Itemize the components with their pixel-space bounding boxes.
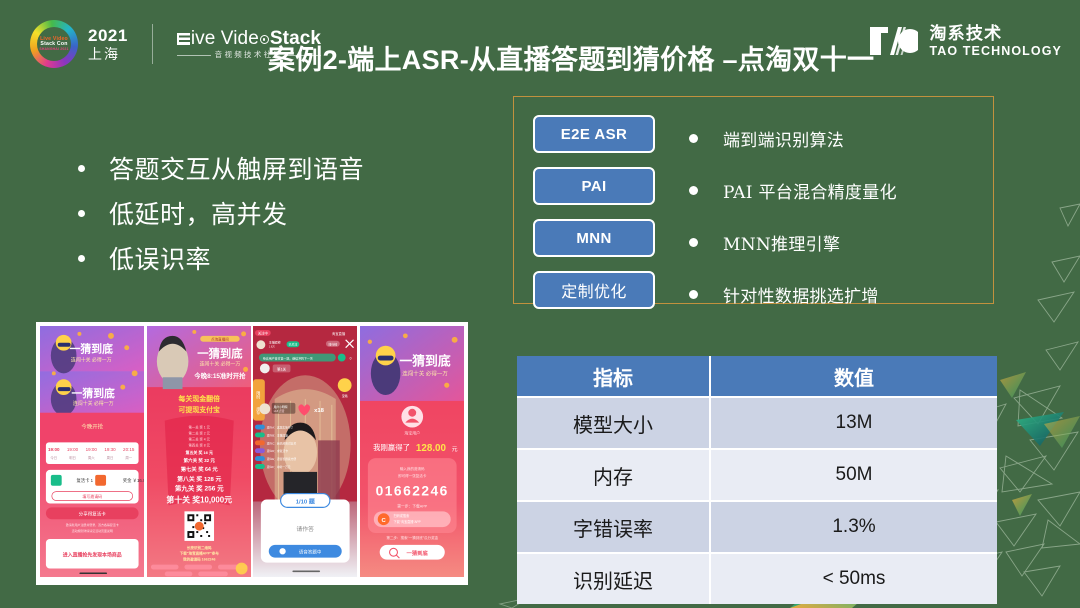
svg-text:今晚开抢: 今晚开抢 <box>81 423 103 431</box>
svg-text:分享得复活卡: 分享得复活卡 <box>79 510 107 517</box>
video-flag-icon <box>177 33 190 45</box>
svg-text:邀请新用户注册并登录，双方各得复活卡: 邀请新用户注册并登录，双方各得复活卡 <box>66 522 119 527</box>
svg-text:C: C <box>381 518 386 524</box>
key-points-list: 答题交互从触屏到语音 低延时，高并发 低误识率 <box>78 150 364 285</box>
svg-text:周六: 周六 <box>88 455 95 460</box>
svg-text:一猜到底: 一猜到底 <box>197 347 243 361</box>
conference-year-city: 2021 上海 <box>88 26 128 62</box>
svg-text:第七关 奖 64 元: 第七关 奖 64 元 <box>180 465 218 473</box>
svg-text:明日: 明日 <box>69 456 76 460</box>
svg-text:下载“淘宝直播APP”参与: 下载“淘宝直播APP”参与 <box>179 551 219 556</box>
app-screenshot-prize-ladder: 点淘直播间 一猜到底 连闯十关 必得一万 今晚8:15准时开抢 每关现金翻倍 可… <box>147 326 252 581</box>
svg-text:0: 0 <box>350 357 352 361</box>
svg-text:我的邀请码 1662246: 我的邀请码 1662246 <box>183 557 215 562</box>
svg-text:周一: 周一 <box>125 455 132 460</box>
svg-text:今日: 今日 <box>50 455 57 460</box>
list-item: MNN推理引擎 <box>689 223 989 261</box>
tech-chip-column: E2E ASR PAI MNN 定制优化 <box>533 115 655 323</box>
bullet-dot-icon <box>689 238 698 247</box>
tao-logo-icon <box>868 24 918 58</box>
screenshot-2-art: 点淘直播间 一猜到底 连闯十关 必得一万 今晚8:15准时开抢 每关现金翻倍 可… <box>147 326 251 577</box>
svg-text:观众F：冲刺一万元: 观众F：冲刺一万元 <box>267 465 291 469</box>
conference-city: 上海 <box>88 46 128 62</box>
svg-text:扫码或搜索: 扫码或搜索 <box>393 513 409 518</box>
svg-text:输入我的邀请码: 输入我的邀请码 <box>399 466 424 471</box>
table-header-metric: 指标 <box>517 356 711 398</box>
svg-text:关注中: 关注中 <box>258 331 268 336</box>
tech-chip-pai[interactable]: PAI <box>533 167 655 205</box>
conference-ring-logo-icon: Live Video Stack Con SHANGHAI 2021 <box>30 20 78 68</box>
svg-text:限时: 限时 <box>256 391 261 400</box>
svg-text:用户小明啊: 用户小明啊 <box>274 405 288 409</box>
app-screenshot-collage: 一猜到底 连闯十关 必得一万 一猜到底 连闯十关 必得一万 今晚开抢 19:00… <box>36 322 468 585</box>
svg-text:连闯十关 必得一万: 连闯十关 必得一万 <box>402 369 448 377</box>
svg-text:周日: 周日 <box>107 455 114 460</box>
svg-text:19:00: 19:00 <box>86 447 98 452</box>
svg-text:即可得一张复活卡: 即可得一张复活卡 <box>398 473 427 478</box>
ring-logo-line3: SHANGHAI 2021 <box>39 48 68 52</box>
svg-text:恭喜用户答对第一题，继续冲刺下一关: 恭喜用户答对第一题，继续冲刺下一关 <box>263 356 313 361</box>
svg-text:下载“淘宝直播”APP: 下载“淘宝直播”APP <box>393 519 420 524</box>
svg-text:已关注: 已关注 <box>289 342 298 347</box>
tao-technology-logo: 淘系技术 TAO TECHNOLOGY <box>868 24 1062 58</box>
svg-text:一猜到底: 一猜到底 <box>72 386 115 400</box>
table-cell-metric: 识别延迟 <box>517 554 711 604</box>
svg-text:填写邀请码: 填写邀请码 <box>82 494 102 499</box>
svg-text:活动规则详情请见活动页面说明: 活动规则详情请见活动页面说明 <box>72 528 113 533</box>
tao-logo-name-cn: 淘系技术 <box>929 24 1062 43</box>
table-cell-metric: 内存 <box>517 450 711 502</box>
table-header-row: 指标 数值 <box>517 356 997 398</box>
table-header-value: 数值 <box>711 356 997 398</box>
wordmark-mid: ive Vide <box>191 29 259 48</box>
svg-text:观众B：主播加油: 观众B：主播加油 <box>267 433 288 437</box>
svg-text:连闯十关 必得一万: 连闯十关 必得一万 <box>71 356 112 363</box>
svg-text:连闯十关 必得一万: 连闯十关 必得一万 <box>199 360 240 367</box>
list-item-label: PAI 平台混合精度量化 <box>723 178 897 203</box>
bullet-dot-icon <box>78 210 85 217</box>
svg-text:第四关 奖 8 元: 第四关 奖 8 元 <box>188 442 210 447</box>
svg-text:第五关 奖 16 元: 第五关 奖 16 元 <box>185 450 212 455</box>
tech-chip-e2e-asr[interactable]: E2E ASR <box>533 115 655 153</box>
bullet-dot-icon <box>689 134 698 143</box>
svg-text:观众A：这题太简单了: 观众A：这题太简单了 <box>267 426 294 430</box>
svg-text:一猜到底: 一猜到底 <box>406 549 428 557</box>
table-cell-value: 13M <box>711 398 997 450</box>
svg-text:奖金 ￥16.00: 奖金 ￥16.00 <box>123 477 145 484</box>
slide-header: Live Video Stack Con SHANGHAI 2021 2021 … <box>0 0 1080 90</box>
svg-text:长按识别二维码: 长按识别二维码 <box>186 545 211 550</box>
svg-text:19:00: 19:00 <box>48 447 60 452</box>
list-item-label: 答题交互从触屏到语音 <box>109 150 364 186</box>
list-item-label: 低延时，高并发 <box>109 195 288 231</box>
svg-text:x18: x18 <box>314 408 325 414</box>
list-item-label: 端到端识别算法 <box>723 126 844 151</box>
bullet-dot-icon <box>78 165 85 172</box>
bullet-dot-icon <box>689 186 698 195</box>
svg-text:排行榜: 排行榜 <box>328 341 337 346</box>
screenshot-3-art: 关注中 淘宝直播 主播昵称 1.8万 已关注 排行榜 恭喜用户答对第一题，继续冲… <box>253 326 357 577</box>
svg-text:01662246: 01662246 <box>375 484 448 499</box>
svg-text:第1关: 第1关 <box>277 366 286 371</box>
list-item-label: 低误识率 <box>109 240 211 276</box>
svg-text:19:00: 19:00 <box>67 447 79 452</box>
table-cell-value: 1.3% <box>711 502 997 554</box>
svg-text:第三关 奖 4 元: 第三关 奖 4 元 <box>188 436 210 441</box>
svg-text:今晚8:15准时开抢: 今晚8:15准时开抢 <box>194 371 246 380</box>
svg-text:第一步：下载APP: 第一步：下载APP <box>397 503 427 508</box>
svg-text:第二关 奖 2 元: 第二关 奖 2 元 <box>188 430 210 435</box>
page-title: 案例2-端上ASR-从直播答题到猜价格 –点淘双十一 <box>268 38 874 77</box>
svg-text:可提现支付宝: 可提现支付宝 <box>178 405 219 414</box>
bullet-dot-icon <box>689 290 698 299</box>
svg-text:20:15: 20:15 <box>123 447 135 452</box>
svg-text:1.8万: 1.8万 <box>269 345 276 349</box>
list-item: 答题交互从触屏到语音 <box>78 150 364 186</box>
svg-text:淘宝直播: 淘宝直播 <box>332 331 346 336</box>
svg-text:x18 点赞: x18 点赞 <box>274 409 285 413</box>
svg-text:每关现金翻倍: 每关现金翻倍 <box>178 394 219 403</box>
header-divider <box>152 24 153 64</box>
table-cell-metric: 模型大小 <box>517 398 711 450</box>
table-row: 内存 50M <box>517 450 997 502</box>
svg-text:1/10 题: 1/10 题 <box>296 497 315 505</box>
app-screenshot-reward-code: 一猜到底 连闯十关 必得一万 淘宝用户 我刚赢得了 128.00 元 输入我的邀… <box>360 326 465 581</box>
svg-text:观众D：求复活卡: 观众D：求复活卡 <box>267 449 288 453</box>
bullet-dot-icon <box>78 255 85 262</box>
svg-text:第一关 奖 1 元: 第一关 奖 1 元 <box>188 425 210 430</box>
tech-chip-mnn[interactable]: MNN <box>533 219 655 257</box>
svg-text:观众C：我已经答对五关: 观众C：我已经答对五关 <box>267 441 297 445</box>
conference-year: 2021 <box>88 26 128 46</box>
list-item: 低延时，高并发 <box>78 195 364 231</box>
tech-description-list: 端到端识别算法 PAI 平台混合精度量化 MNN推理引擎 针对性数据挑选扩增 <box>689 119 989 327</box>
svg-text:观众E：语音答题真方便: 观众E：语音答题真方便 <box>267 457 297 461</box>
svg-text:128.00: 128.00 <box>415 443 446 454</box>
tao-logo-name-en: TAO TECHNOLOGY <box>929 44 1062 58</box>
screenshot-1-art: 一猜到底 连闯十关 必得一万 一猜到底 连闯十关 必得一万 今晚开抢 19:00… <box>40 326 144 577</box>
svg-text:淘宝用户: 淘宝用户 <box>404 430 420 435</box>
app-screenshot-live-answer: 关注中 淘宝直播 主播昵称 1.8万 已关注 排行榜 恭喜用户答对第一题，继续冲… <box>253 326 358 581</box>
svg-text:第六关 奖 32 元: 第六关 奖 32 元 <box>183 457 215 464</box>
table-row: 识别延迟 < 50ms <box>517 554 997 604</box>
svg-text:主播昵称: 主播昵称 <box>269 339 281 344</box>
svg-text:19:30: 19:30 <box>104 447 116 452</box>
app-screenshot-guess-price-schedule: 一猜到底 连闯十关 必得一万 一猜到底 连闯十关 必得一万 今晚开抢 19:00… <box>40 326 145 581</box>
screenshot-4-art: 一猜到底 连闯十关 必得一万 淘宝用户 我刚赢得了 128.00 元 输入我的邀… <box>360 326 464 577</box>
metrics-table: 指标 数值 模型大小 13M 内存 50M 字错误率 1.3% 识别延迟 < 5… <box>517 356 997 604</box>
list-item: PAI 平台混合精度量化 <box>689 171 989 209</box>
svg-text:一猜到底: 一猜到底 <box>399 353 450 368</box>
table-cell-metric: 字错误率 <box>517 502 711 554</box>
table-cell-value: < 50ms <box>711 554 997 604</box>
svg-text:宝箱: 宝箱 <box>342 393 348 398</box>
tech-stack-panel: E2E ASR PAI MNN 定制优化 端到端识别算法 PAI 平台混合精度量… <box>513 96 994 304</box>
svg-text:第八关 奖 128 元: 第八关 奖 128 元 <box>176 475 221 483</box>
svg-text:第九关 奖 256 元: 第九关 奖 256 元 <box>174 484 223 493</box>
svg-text:我刚赢得了: 我刚赢得了 <box>373 443 410 452</box>
svg-text:元: 元 <box>451 446 457 453</box>
svg-text:第十关 奖10,000元: 第十关 奖10,000元 <box>166 494 232 504</box>
list-item: 端到端识别算法 <box>689 119 989 157</box>
svg-text:请作答: 请作答 <box>296 525 314 533</box>
svg-text:第二步：搜索“一猜到底”瓜分奖金: 第二步：搜索“一猜到底”瓜分奖金 <box>386 535 438 540</box>
slide-canvas: Live Video Stack Con SHANGHAI 2021 2021 … <box>0 0 1080 608</box>
svg-text:进入直播抢先发现本场商品: 进入直播抢先发现本场商品 <box>63 552 122 559</box>
tech-chip-custom-optimization[interactable]: 定制优化 <box>533 271 655 309</box>
list-item-label: MNN推理引擎 <box>723 230 840 255</box>
list-item-label: 针对性数据挑选扩增 <box>723 282 879 307</box>
svg-text:一猜到底: 一猜到底 <box>70 342 113 356</box>
table-cell-value: 50M <box>711 450 997 502</box>
svg-text:连闯十关 必得一万: 连闯十关 必得一万 <box>73 400 114 407</box>
svg-text:复活卡 1: 复活卡 1 <box>76 477 93 484</box>
table-row: 模型大小 13M <box>517 398 997 450</box>
list-item: 针对性数据挑选扩增 <box>689 275 989 313</box>
table-row: 字错误率 1.3% <box>517 502 997 554</box>
svg-text:语音答题中: 语音答题中 <box>299 549 322 556</box>
svg-text:点淘直播间: 点淘直播间 <box>211 337 229 342</box>
list-item: 低误识率 <box>78 240 364 276</box>
